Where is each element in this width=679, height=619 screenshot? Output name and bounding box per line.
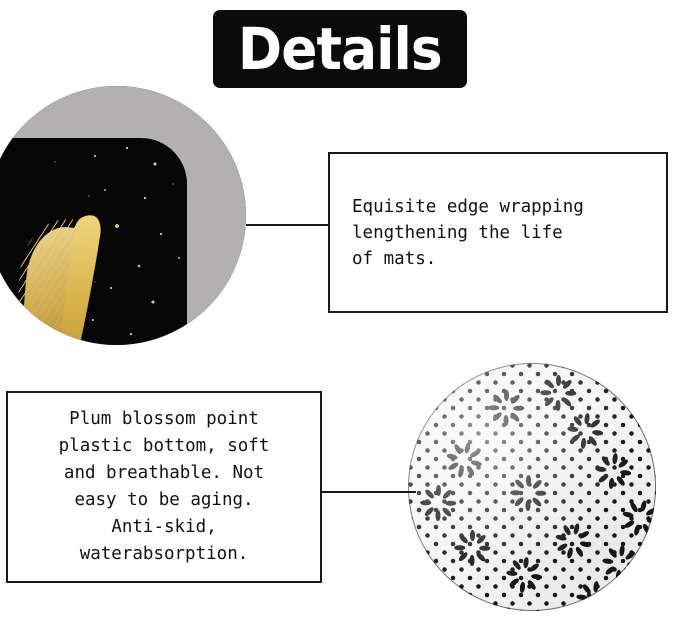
plum-blossom-icon: [574, 579, 614, 611]
plum-blossom-icon: [538, 373, 578, 413]
plum-blossom-icon: [565, 411, 605, 451]
plum-blossom-icon: [484, 605, 524, 611]
plum-blossom-icon: [553, 521, 593, 561]
plum-blossom-icon: [504, 555, 544, 595]
callout-plastic-bottom: Plum blossom point plastic bottom, soft …: [6, 391, 322, 583]
page-title: Details: [238, 20, 442, 78]
callout-edge-wrapping: Equisite edge wrapping lengthening the l…: [328, 152, 668, 313]
details-title-banner: Details: [213, 10, 467, 88]
plum-blossom-icon: [620, 498, 656, 538]
connector-line-bottom: [320, 491, 416, 493]
plum-blossom-icon: [600, 543, 640, 583]
details-infographic: Details Equisite edge wrapping lengtheni…: [0, 0, 679, 619]
plum-blossom-icon: [452, 528, 492, 568]
mat-edge-closeup-photo: [0, 86, 246, 345]
callout-plastic-bottom-text: Plum blossom point plastic bottom, soft …: [20, 406, 308, 568]
plum-blossom-icon: [418, 483, 458, 523]
plum-blossom-icon: [486, 388, 526, 428]
plum-blossom-icon: [593, 451, 633, 491]
mat-backing-closeup-photo: [408, 363, 656, 611]
callout-edge-wrapping-text: Equisite edge wrapping lengthening the l…: [352, 194, 656, 272]
connector-line-top: [246, 224, 330, 226]
plum-blossom-icon: [508, 473, 548, 513]
plum-blossom-icon: [444, 440, 484, 480]
